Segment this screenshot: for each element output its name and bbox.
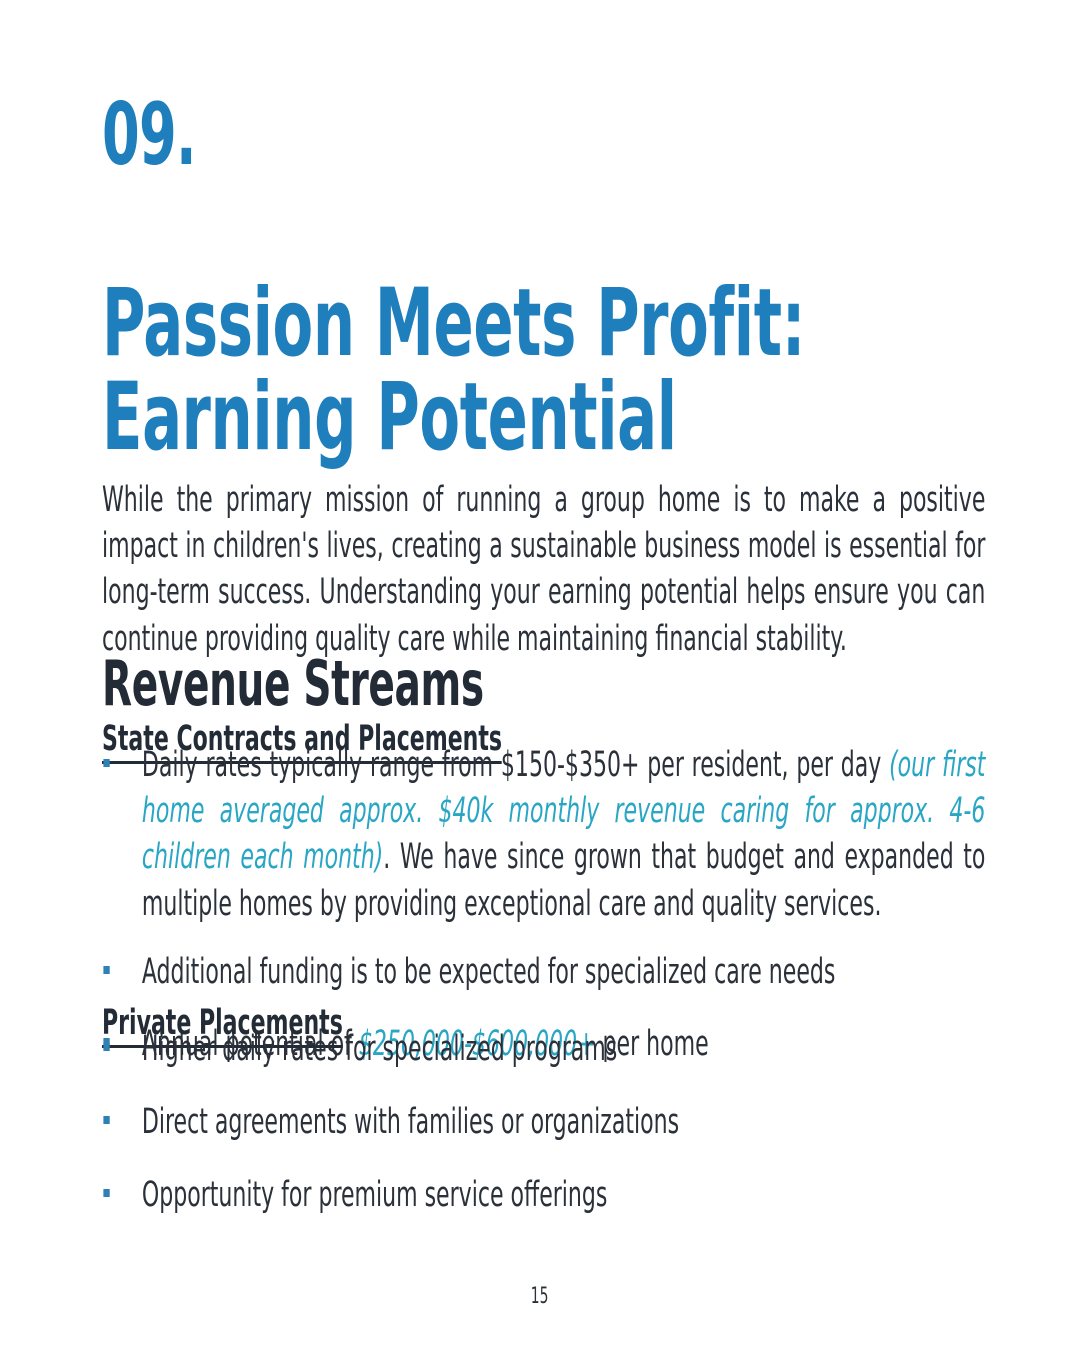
bullet-square-icon xyxy=(103,966,109,974)
bullet-square-icon xyxy=(103,1043,109,1051)
chapter-number: 09. xyxy=(102,96,196,175)
document-page: 09. Passion Meets Profit: Earning Potent… xyxy=(0,0,1080,1350)
page-number-value: 15 xyxy=(531,1284,549,1309)
list-item-text: Daily rates typically range from $150-$3… xyxy=(142,742,986,927)
intro-paragraph: While the primary mission of running a g… xyxy=(102,477,985,662)
plain-text: Opportunity for premium service offering… xyxy=(142,1175,607,1215)
page-title: Passion Meets Profit: Earning Potential xyxy=(102,277,984,465)
bullet-square-icon xyxy=(103,1116,109,1124)
list-item-text: Additional funding is to be expected for… xyxy=(142,949,986,995)
list-item: Direct agreements with families or organ… xyxy=(102,1099,985,1145)
bullet-square-icon xyxy=(103,1189,109,1197)
bullet-list-private-placements: Higher daily rates for specialized progr… xyxy=(102,1026,985,1246)
page-number: 15 xyxy=(0,1284,1080,1309)
list-item: Opportunity for premium service offering… xyxy=(102,1172,985,1218)
list-item: Additional funding is to be expected for… xyxy=(102,949,985,995)
list-item: Higher daily rates for specialized progr… xyxy=(102,1026,985,1072)
list-item-text: Opportunity for premium service offering… xyxy=(142,1172,986,1218)
plain-text: Additional funding is to be expected for… xyxy=(142,952,835,992)
plain-text: Higher daily rates for specialized progr… xyxy=(142,1029,617,1069)
plain-text: Direct agreements with families or organ… xyxy=(142,1102,679,1142)
plain-text: Daily rates typically range from $150-$3… xyxy=(142,745,889,785)
list-item: Daily rates typically range from $150-$3… xyxy=(102,742,985,927)
list-item-text: Direct agreements with families or organ… xyxy=(142,1099,986,1145)
section-heading-revenue-streams: Revenue Streams xyxy=(102,653,484,715)
list-item-text: Higher daily rates for specialized progr… xyxy=(142,1026,986,1072)
bullet-square-icon xyxy=(103,759,109,767)
